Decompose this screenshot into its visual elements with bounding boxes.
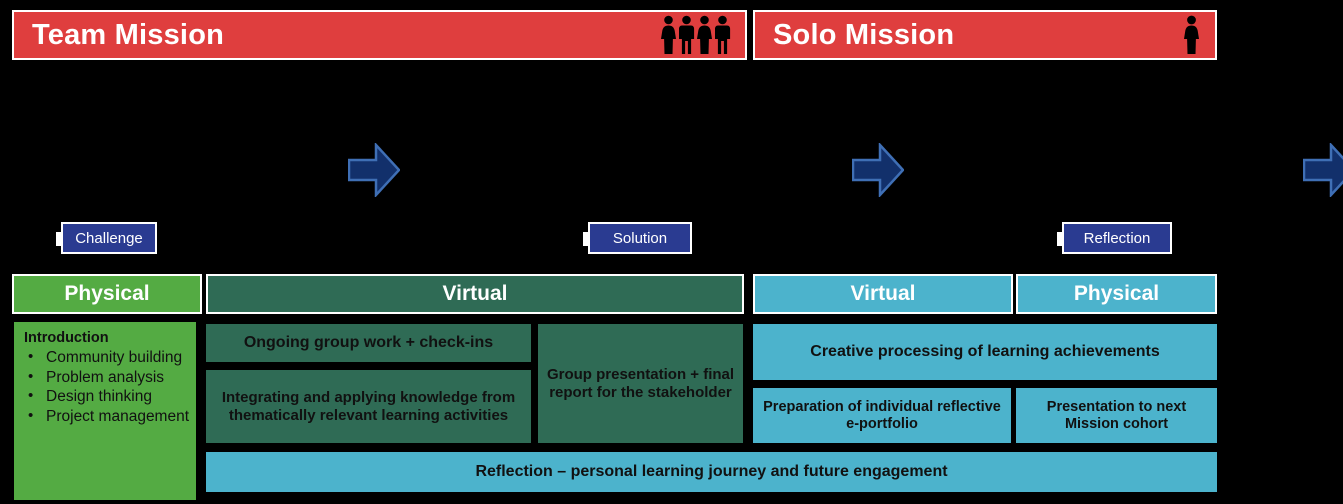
- person-female-icon: [1182, 15, 1201, 55]
- mode-bar-virtual-solo-label: Virtual: [851, 282, 916, 306]
- person-male-icon: [714, 15, 731, 55]
- ongoing-group-work-box: Ongoing group work + check-ins: [206, 324, 531, 362]
- badge-challenge-label: Challenge: [75, 230, 143, 247]
- team-mission-title: Team Mission: [32, 19, 660, 52]
- badge-reflection[interactable]: Reflection: [1062, 222, 1172, 254]
- list-item: Community building: [24, 348, 190, 368]
- introduction-list: Community building Problem analysis Desi…: [24, 348, 190, 427]
- mode-bar-physical-team: Physical: [12, 274, 202, 314]
- presentation-next-cohort-box: Presentation to next Mission cohort: [1016, 388, 1217, 443]
- mode-bar-virtual-solo: Virtual: [753, 274, 1013, 314]
- badge-solution-label: Solution: [613, 230, 667, 247]
- eportfolio-box: Preparation of individual reflective e-p…: [753, 388, 1011, 443]
- mode-bar-physical-solo-label: Physical: [1074, 282, 1159, 306]
- mode-bar-physical-team-label: Physical: [64, 282, 149, 306]
- solo-mission-title: Solo Mission: [773, 19, 1182, 52]
- solo-mission-banner: Solo Mission: [753, 10, 1217, 60]
- list-item: Project management: [24, 407, 190, 427]
- presentation-next-cohort-label: Presentation to next Mission cohort: [1024, 399, 1209, 433]
- group-presentation-box: Group presentation + final report for th…: [538, 324, 743, 443]
- eportfolio-label: Preparation of individual reflective e-p…: [761, 399, 1003, 433]
- introduction-box: Introduction Community building Problem …: [14, 322, 196, 500]
- diagram-canvas: Team Mission Solo Mission: [0, 0, 1343, 504]
- reflection-footer-bar: Reflection – personal learning journey a…: [206, 452, 1217, 492]
- mode-bar-virtual-team-label: Virtual: [443, 282, 508, 306]
- ongoing-group-work-label: Ongoing group work + check-ins: [244, 334, 493, 353]
- badge-solution[interactable]: Solution: [588, 222, 692, 254]
- integrating-knowledge-box: Integrating and applying knowledge from …: [206, 370, 531, 443]
- arrow-challenge-to-solution: [348, 143, 400, 197]
- group-presentation-label: Group presentation + final report for th…: [546, 366, 735, 401]
- badge-reflection-label: Reflection: [1084, 230, 1151, 247]
- single-person-icon: [1182, 15, 1201, 55]
- mode-bar-virtual-team: Virtual: [206, 274, 744, 314]
- list-item: Problem analysis: [24, 368, 190, 388]
- reflection-footer-label: Reflection – personal learning journey a…: [475, 463, 947, 482]
- arrow-reflection-to-next: [1303, 143, 1343, 197]
- integrating-knowledge-label: Integrating and applying knowledge from …: [214, 389, 523, 424]
- creative-processing-label: Creative processing of learning achievem…: [810, 343, 1159, 362]
- team-mission-banner: Team Mission: [12, 10, 747, 60]
- list-item: Design thinking: [24, 387, 190, 407]
- introduction-heading: Introduction: [24, 330, 190, 347]
- person-female-icon: [660, 15, 677, 55]
- person-male-icon: [678, 15, 695, 55]
- group-of-four-people-icon: [660, 15, 731, 55]
- badge-challenge[interactable]: Challenge: [61, 222, 157, 254]
- arrow-solution-to-reflection: [852, 143, 904, 197]
- creative-processing-box: Creative processing of learning achievem…: [753, 324, 1217, 380]
- person-female-icon: [696, 15, 713, 55]
- mode-bar-physical-solo: Physical: [1016, 274, 1217, 314]
